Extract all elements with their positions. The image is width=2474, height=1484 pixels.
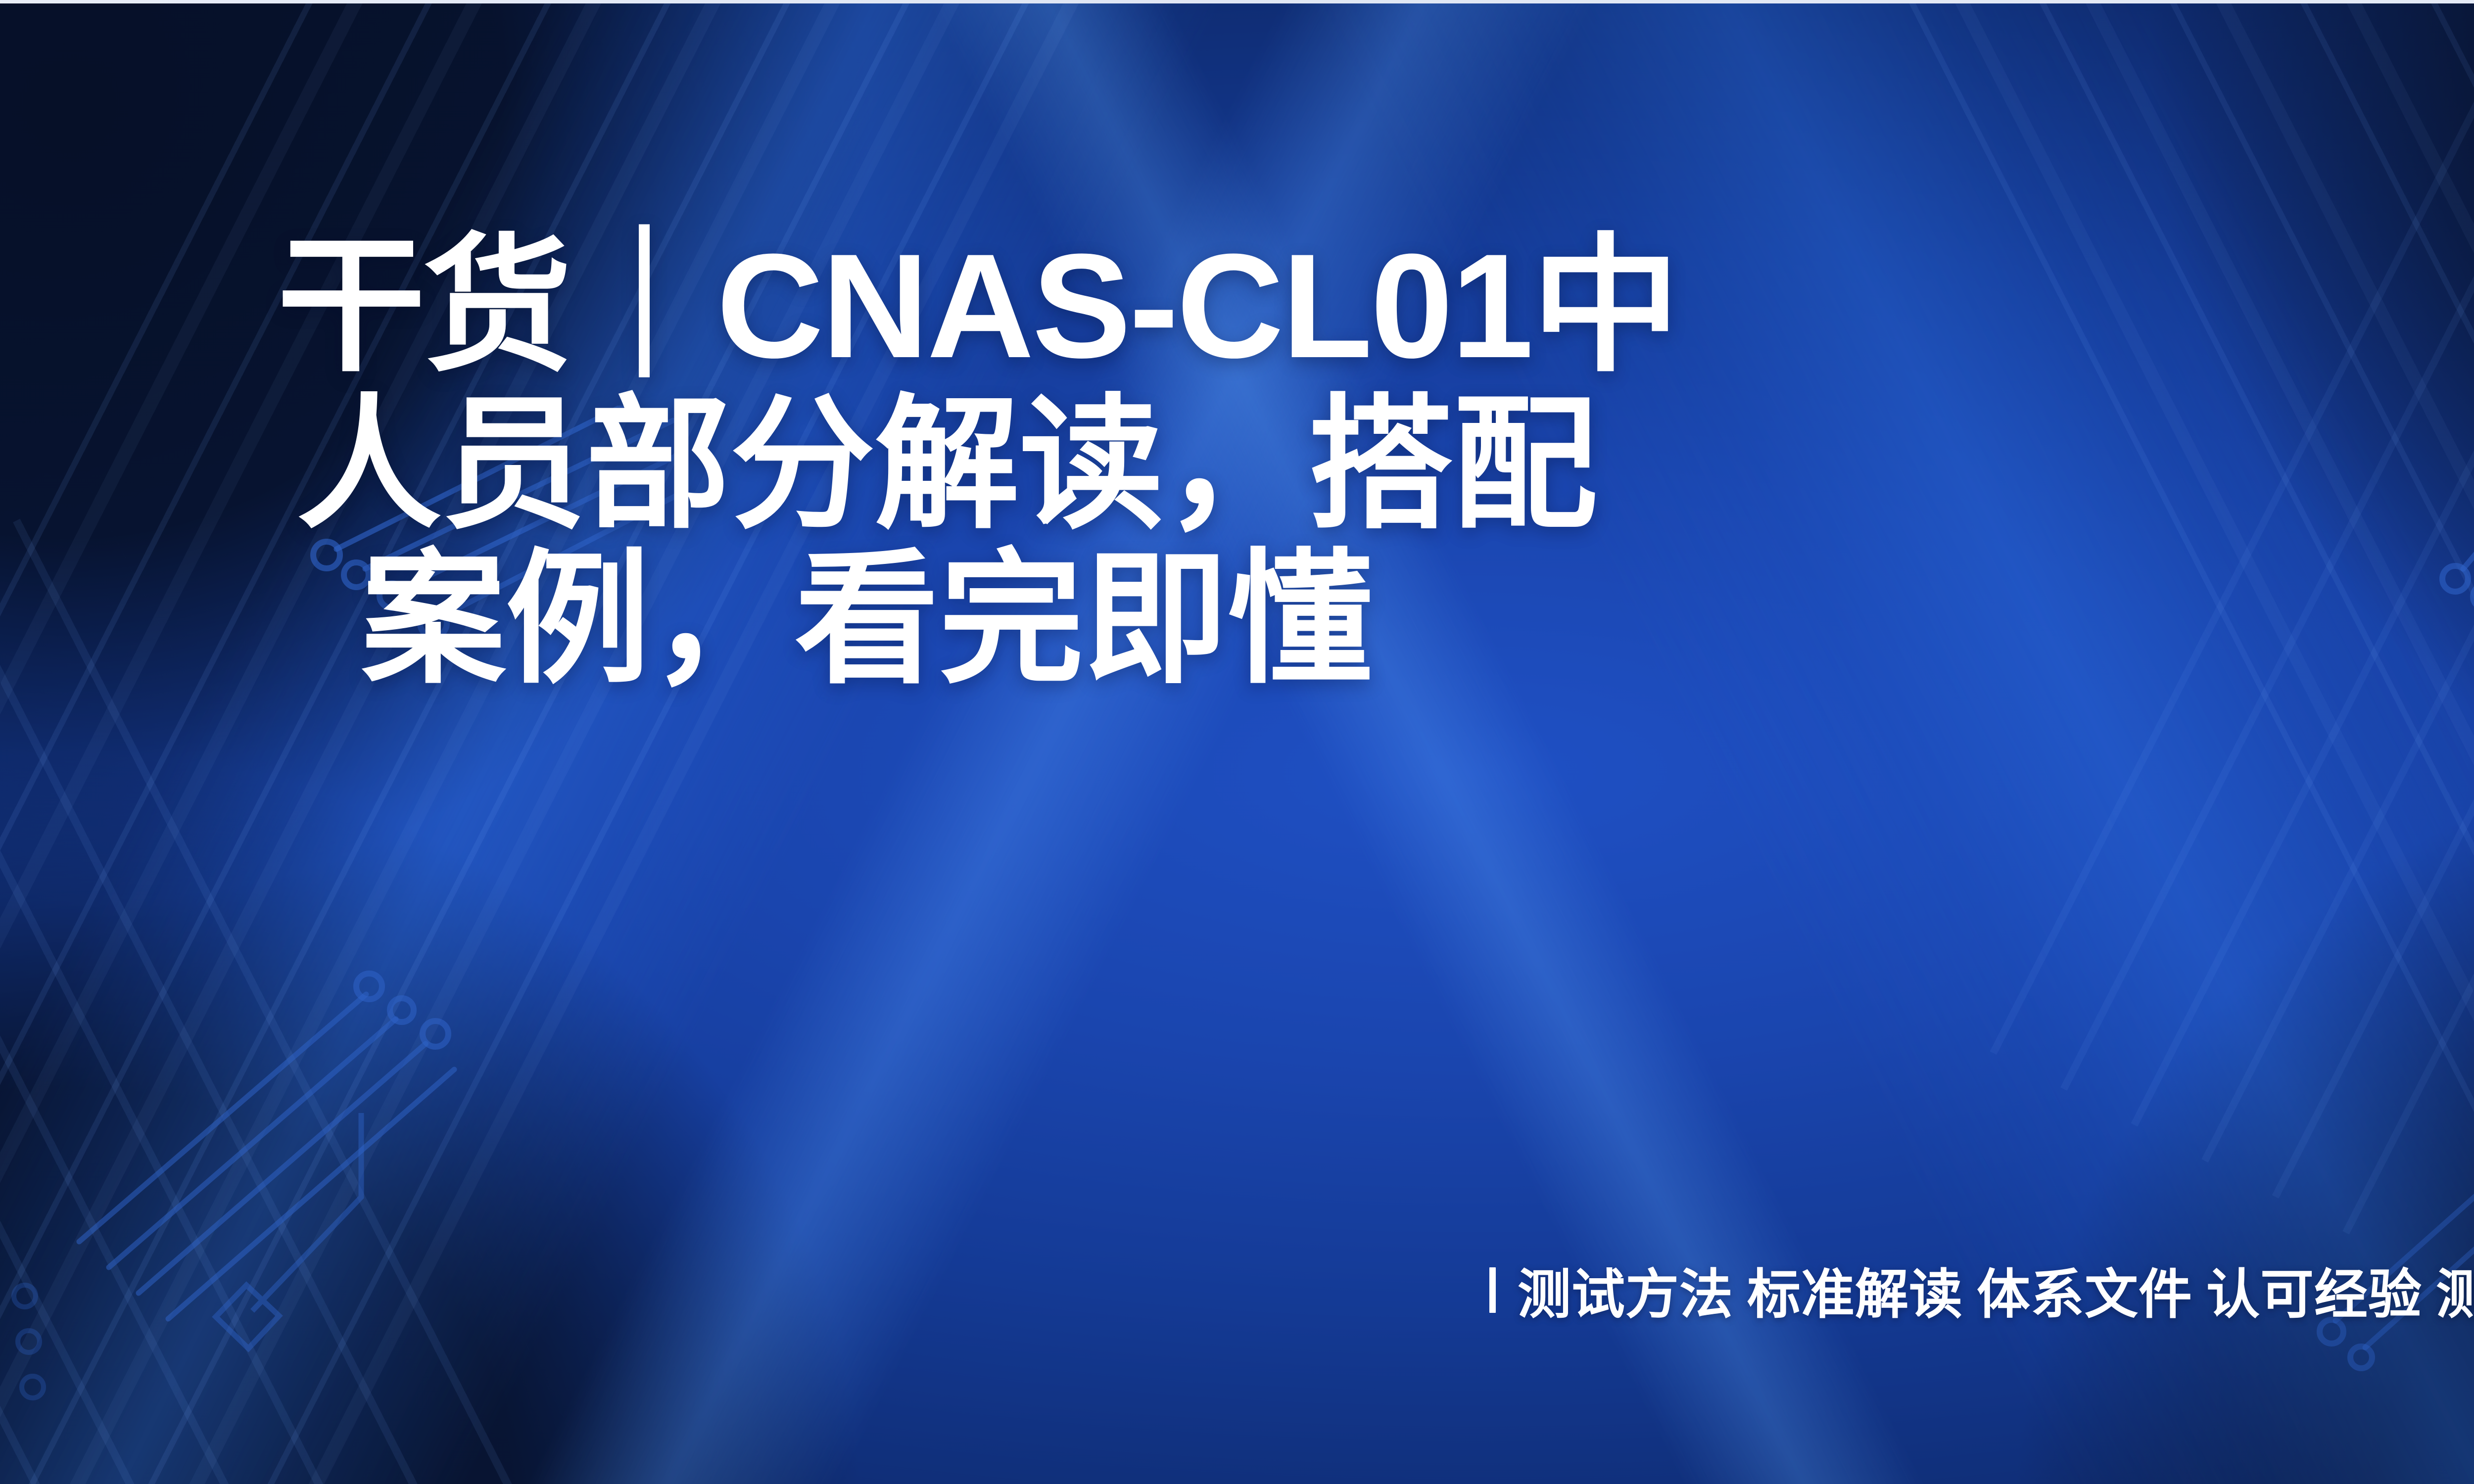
- promo-banner: 干货｜CNAS-CL01中 人员部分解读，搭配 案例，看完即懂 测试方法 标准解…: [0, 0, 2474, 1484]
- subtitle-divider-bar: [1489, 1267, 1496, 1313]
- subtitle-tag-0: 测试方法: [1518, 1252, 1733, 1329]
- subtitle-tag-2: 体系文件: [1977, 1252, 2192, 1329]
- top-edge-highlight: [0, 0, 2474, 3]
- subtitle-tag-3: 认可经验: [2206, 1252, 2422, 1329]
- title-line-1: 干货｜CNAS-CL01中: [277, 232, 2474, 379]
- headline-block: 干货｜CNAS-CL01中 人员部分解读，搭配 案例，看完即懂: [0, 232, 2474, 691]
- title-line-2: 人员部分解读，搭配: [277, 393, 2474, 536]
- banner-content: 干货｜CNAS-CL01中 人员部分解读，搭配 案例，看完即懂 测试方法 标准解…: [0, 0, 2474, 1484]
- title-line-3: 案例，看完即懂: [277, 548, 2474, 691]
- subtitle-tag-4: 测试工具: [2436, 1252, 2474, 1329]
- subtitle-tag-1: 标准解读: [1747, 1252, 1963, 1329]
- subtitle-tag-row: 测试方法 标准解读 体系文件 认可经验 测试工具: [1489, 1252, 2474, 1329]
